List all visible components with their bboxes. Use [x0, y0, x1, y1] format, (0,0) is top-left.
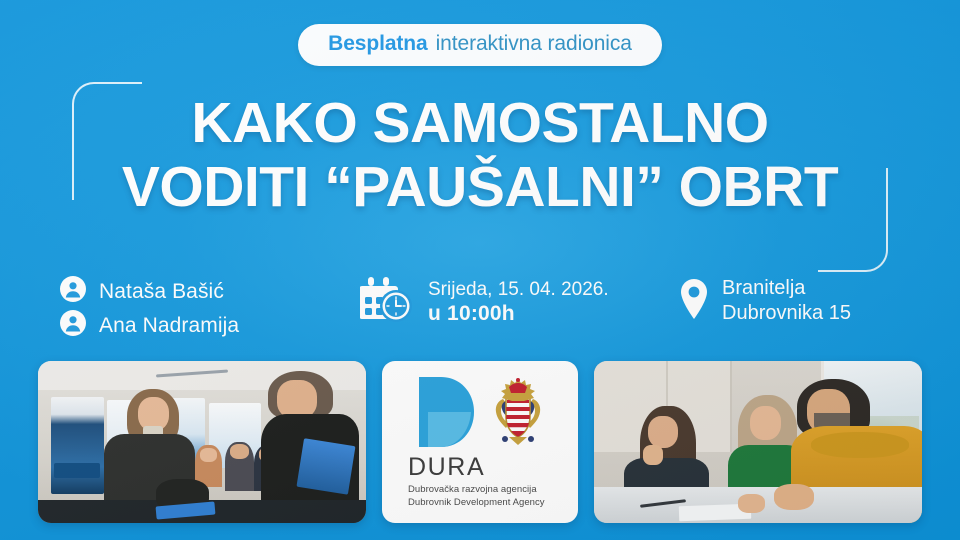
- speaker-item: Ana Nadramija: [60, 310, 360, 341]
- dubrovnik-coat-of-arms: [491, 377, 545, 452]
- speaker-name: Ana Nadramija: [99, 314, 239, 338]
- left-photo-card: [38, 361, 366, 523]
- title-line-2: VODITI “PAUŠALNI” OBRT: [80, 156, 880, 220]
- event-date: Srijeda, 15. 04. 2026.: [428, 278, 609, 301]
- calendar-clock-icon: [360, 276, 414, 329]
- location-block: Branitelja Dubrovnika 15: [660, 276, 900, 326]
- logo-text-block: DURA Dubrovačka razvojna agencija Dubrov…: [392, 455, 568, 509]
- workshop-badge: Besplatna interaktivna radionica: [298, 24, 662, 66]
- person-icon: [60, 310, 86, 341]
- location-text: Branitelja Dubrovnika 15: [722, 276, 851, 326]
- three-people-at-table-photo: [594, 361, 922, 523]
- logo-marks-row: [392, 373, 568, 455]
- bottom-cards-row: DURA Dubrovačka razvojna agencija Dubrov…: [38, 361, 922, 523]
- logo-subtitle-hr: Dubrovačka razvojna agencija: [408, 484, 568, 497]
- speaker-item: Nataša Bašić: [60, 276, 360, 307]
- person-icon: [60, 276, 86, 307]
- dura-d-mark: [415, 375, 477, 454]
- badge-container: Besplatna interaktivna radionica: [0, 24, 960, 66]
- datetime-text: Srijeda, 15. 04. 2026. u 10:00h: [428, 278, 609, 327]
- speakers-block: Nataša Bašić Ana Nadramija: [60, 276, 360, 341]
- page-title: KAKO SAMOSTALNO VODITI “PAUŠALNI” OBRT: [0, 92, 960, 220]
- speaker-name: Nataša Bašić: [99, 280, 224, 304]
- badge-strong-text: Besplatna: [328, 32, 427, 56]
- map-pin-icon: [678, 278, 710, 325]
- event-info-row: Nataša Bašić Ana Nadramija: [0, 276, 960, 341]
- location-line-2: Dubrovnika 15: [722, 301, 851, 326]
- datetime-block: Srijeda, 15. 04. 2026. u 10:00h: [360, 276, 660, 329]
- location-line-1: Branitelja: [722, 276, 851, 301]
- badge-light-text: interaktivna radionica: [436, 32, 632, 56]
- logo-name: DURA: [408, 455, 568, 480]
- poster-canvas: Besplatna interaktivna radionica KAKO SA…: [0, 0, 960, 540]
- title-line-1: KAKO SAMOSTALNO: [191, 91, 768, 155]
- workshop-attendees-laughing-photo: [38, 361, 366, 523]
- logo-subtitle-en: Dubrovnik Development Agency: [408, 497, 568, 510]
- event-time: u 10:00h: [428, 301, 609, 327]
- dura-logo-card: DURA Dubrovačka razvojna agencija Dubrov…: [382, 361, 578, 523]
- right-photo-card: [594, 361, 922, 523]
